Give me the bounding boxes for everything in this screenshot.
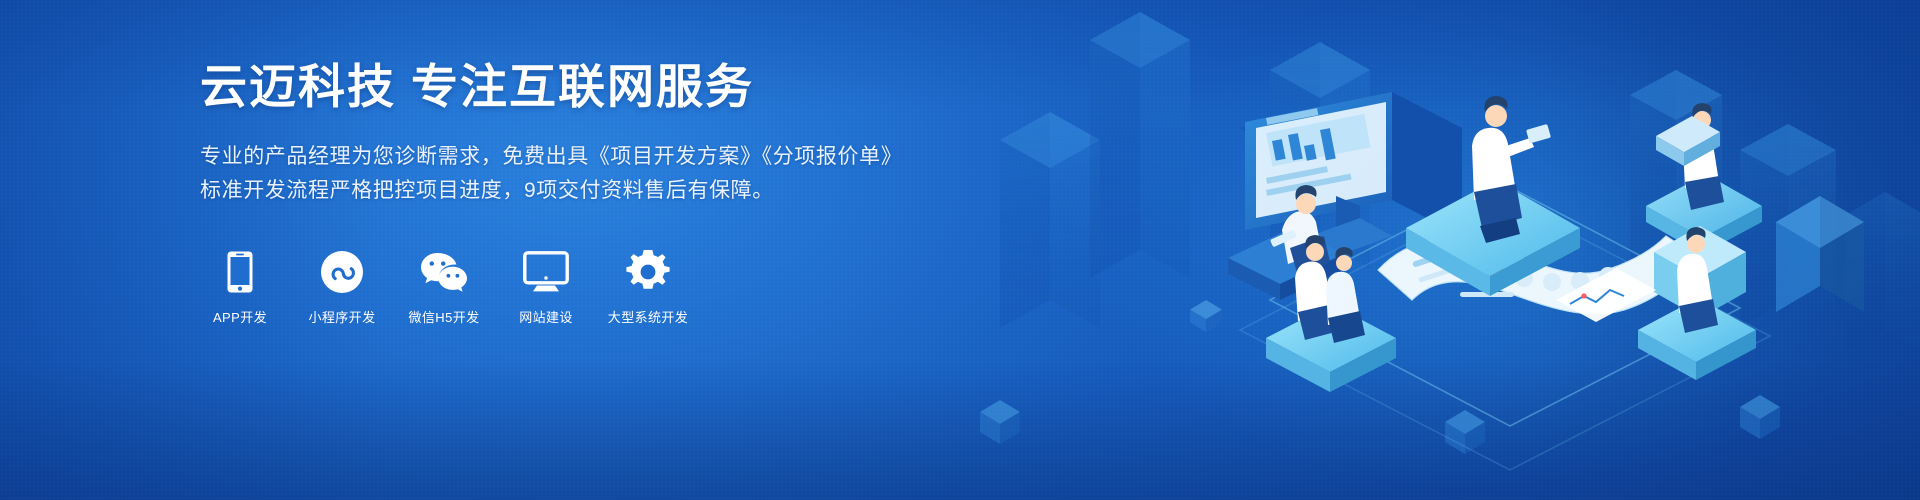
gear-icon: [626, 250, 670, 294]
service-label: 大型系统开发: [608, 307, 688, 326]
service-list: APP开发 小程序开发: [200, 250, 960, 326]
service-label: APP开发: [213, 307, 267, 326]
service-label: 微信H5开发: [408, 307, 479, 326]
subtitle-line-2: 标准开发流程严格把控项目进度，9项交付资料售后有保障。: [200, 174, 960, 208]
service-item-miniprogram[interactable]: 小程序开发: [302, 250, 382, 326]
service-label: 网站建设: [519, 307, 573, 326]
wechat-icon: [420, 250, 468, 294]
monitor-icon: [523, 250, 569, 294]
mini-program-icon: [321, 250, 363, 294]
page-title: 云迈科技 专注互联网服务: [200, 60, 960, 114]
service-label: 小程序开发: [308, 307, 375, 326]
subtitle-line-1: 专业的产品经理为您诊断需求，免费出具《项目开发方案》《分项报价单》: [200, 140, 960, 174]
banner-content: 云迈科技 专注互联网服务 专业的产品经理为您诊断需求，免费出具《项目开发方案》《…: [200, 60, 960, 326]
isometric-illustration: [940, 0, 1920, 500]
mobile-phone-icon: [227, 250, 253, 294]
service-item-website[interactable]: 网站建设: [506, 250, 586, 326]
service-item-enterprise-system[interactable]: 大型系统开发: [608, 250, 688, 326]
hero-banner: 云迈科技 专注互联网服务 专业的产品经理为您诊断需求，免费出具《项目开发方案》《…: [0, 0, 1920, 500]
service-item-wechat-h5[interactable]: 微信H5开发: [404, 250, 484, 326]
service-item-app[interactable]: APP开发: [200, 250, 280, 326]
